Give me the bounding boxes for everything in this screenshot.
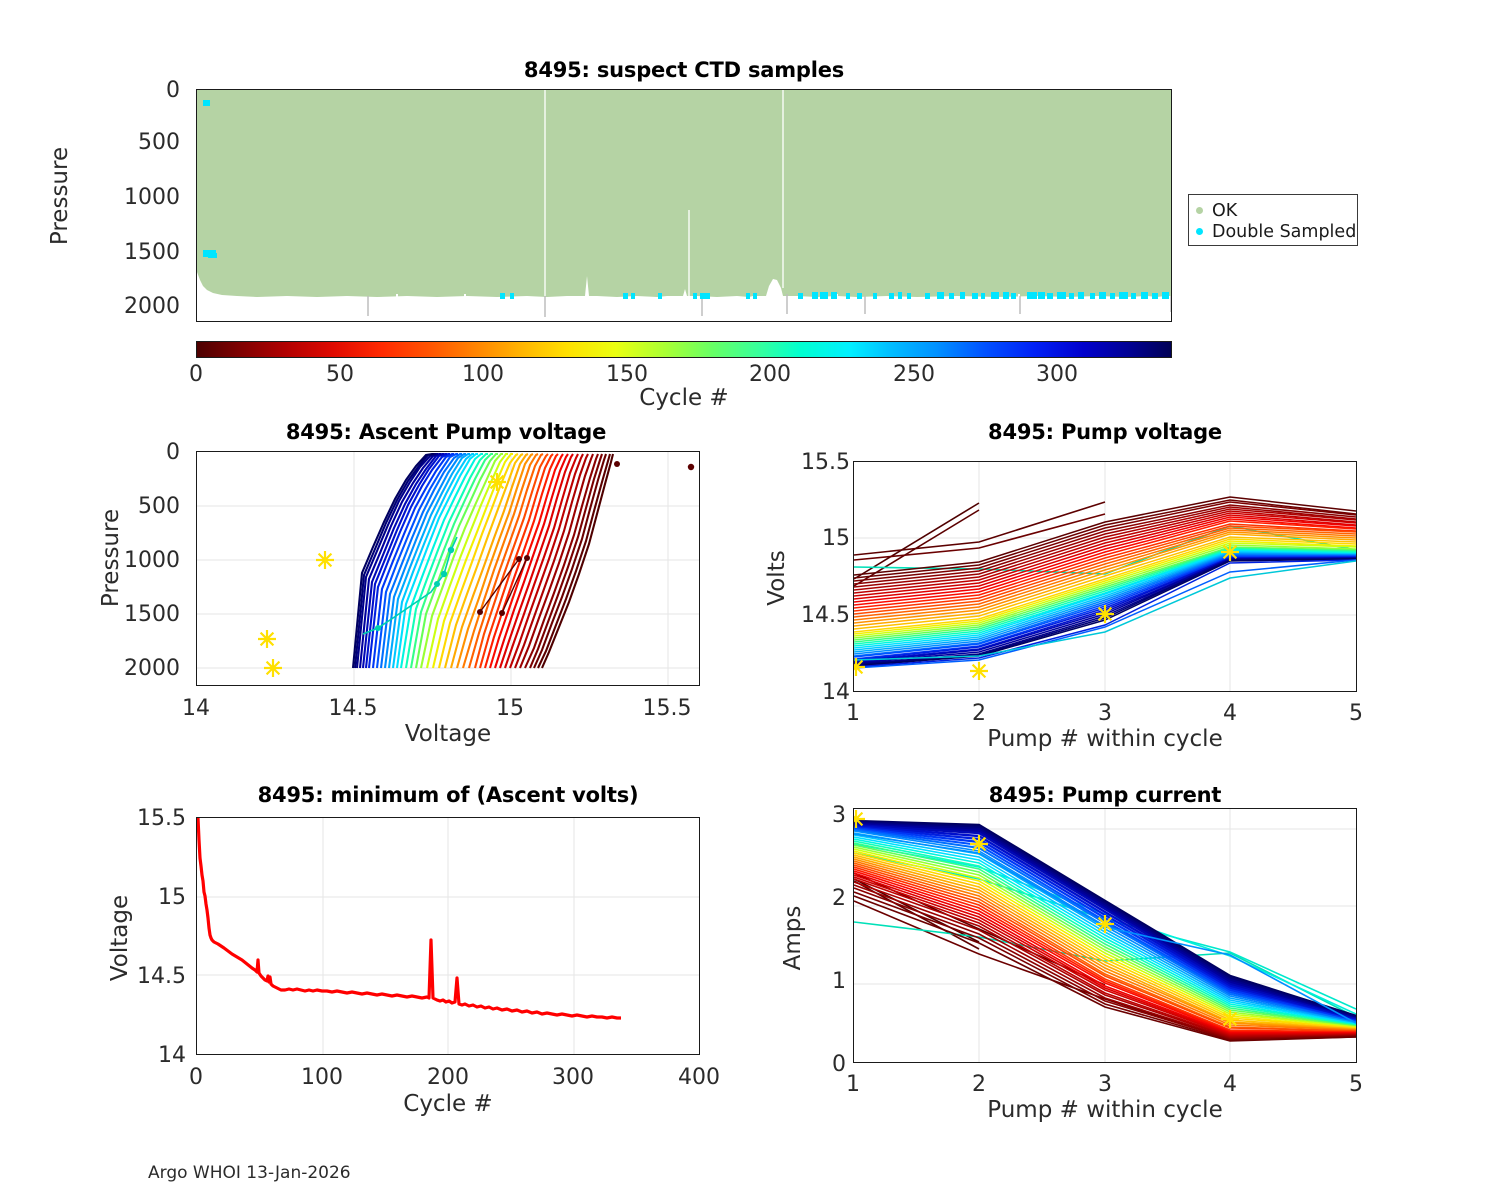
gridlines	[197, 452, 699, 685]
y-tick-pv-14-5: 14.5	[778, 603, 850, 628]
x-tick-ctd-200: 200	[730, 362, 810, 387]
y-tick-pc-1: 1	[790, 969, 846, 994]
x-tick-pc-1: 1	[813, 1072, 893, 1097]
legend-item-ok: OK	[1196, 200, 1349, 221]
y-tick-ascent-1000: 1000	[105, 548, 180, 573]
legend-suspect-ctd: OK Double Sampled	[1188, 194, 1358, 246]
x-tick-pv-5: 5	[1316, 701, 1396, 726]
plot-area-ascent-pump-voltage	[196, 451, 700, 686]
x-tick-min-0: 0	[156, 1065, 236, 1090]
x-tick-ctd-300: 300	[1017, 362, 1097, 387]
y-tick-min-14-5: 14.5	[110, 964, 186, 989]
x-axis-label-pump-number-voltage: Pump # within cycle	[905, 726, 1305, 752]
x-tick-min-400: 400	[659, 1065, 739, 1090]
y-tick-min-15-5: 15.5	[110, 806, 186, 831]
x-tick-ascent-14-5: 14.5	[313, 696, 393, 721]
ctd-sample-canvas	[197, 90, 1171, 321]
x-tick-ctd-0: 0	[156, 362, 236, 387]
x-tick-pc-2: 2	[939, 1072, 1019, 1097]
panel-title-pump-voltage: 8495: Pump voltage	[853, 420, 1357, 444]
y-axis-label-pressure-ctd: Pressure	[47, 111, 73, 281]
panel-title-ascent-pump-voltage: 8495: Ascent Pump voltage	[196, 420, 696, 444]
x-axis-label-cycle-ctd: Cycle #	[484, 385, 884, 411]
gridlines	[197, 818, 699, 1054]
x-tick-ascent-15: 15	[470, 696, 550, 721]
x-tick-ctd-250: 250	[874, 362, 954, 387]
plot-area-suspect-ctd	[196, 89, 1172, 322]
x-tick-ascent-15-5: 15.5	[627, 696, 707, 721]
x-tick-pc-5: 5	[1316, 1072, 1396, 1097]
x-tick-ctd-150: 150	[587, 362, 667, 387]
panel-title-suspect-ctd: 8495: suspect CTD samples	[196, 58, 1172, 82]
x-tick-pv-3: 3	[1065, 701, 1145, 726]
min-ascent-volts-line	[198, 818, 621, 1018]
x-tick-pc-3: 3	[1065, 1072, 1145, 1097]
x-axis-label-pump-number-current: Pump # within cycle	[905, 1097, 1305, 1123]
panel-title-min-ascent-volts: 8495: minimum of (Ascent volts)	[196, 783, 700, 807]
x-tick-ascent-14: 14	[156, 696, 236, 721]
cycle-colorbar	[196, 341, 1172, 358]
y-tick-ctd-1000: 1000	[105, 185, 180, 210]
min-ascent-volts-canvas	[197, 818, 699, 1054]
y-tick-pc-3: 3	[790, 803, 846, 828]
y-tick-pc-2: 2	[790, 886, 846, 911]
y-tick-ascent-2000: 2000	[105, 656, 180, 681]
plot-area-min-ascent-volts	[196, 817, 700, 1055]
legend-item-double-sampled: Double Sampled	[1196, 221, 1349, 242]
x-tick-pv-1: 1	[813, 701, 893, 726]
y-tick-ascent-0: 0	[105, 440, 180, 465]
plot-area-pump-current	[853, 808, 1357, 1063]
y-tick-min-15: 15	[110, 885, 186, 910]
legend-label-ok: OK	[1212, 201, 1237, 221]
legend-label-double-sampled: Double Sampled	[1212, 222, 1356, 242]
x-tick-pc-4: 4	[1190, 1072, 1270, 1097]
panel-title-pump-current: 8495: Pump current	[853, 783, 1357, 807]
y-tick-ascent-1500: 1500	[105, 602, 180, 627]
x-tick-min-200: 200	[408, 1065, 488, 1090]
x-tick-pv-2: 2	[939, 701, 1019, 726]
y-tick-ctd-1500: 1500	[105, 240, 180, 265]
y-tick-ascent-500: 500	[105, 494, 180, 519]
y-tick-pv-15: 15	[778, 526, 850, 551]
x-axis-label-cycle-min: Cycle #	[248, 1091, 648, 1117]
legend-marker-ok-icon	[1196, 207, 1203, 214]
figure-footer: Argo WHOI 13-Jan-2026	[148, 1163, 351, 1183]
pump-voltage-canvas	[854, 462, 1356, 691]
plot-area-pump-voltage	[853, 461, 1357, 692]
ascent-pump-voltage-canvas	[197, 452, 699, 685]
x-tick-min-300: 300	[533, 1065, 613, 1090]
y-tick-ctd-2000: 2000	[105, 294, 180, 319]
x-axis-label-voltage-ascent: Voltage	[248, 721, 648, 747]
ok-samples-region	[197, 90, 1171, 297]
x-tick-ctd-100: 100	[443, 362, 523, 387]
x-tick-min-100: 100	[282, 1065, 362, 1090]
y-tick-pv-15-5: 15.5	[778, 450, 850, 475]
y-tick-ctd-500: 500	[105, 130, 180, 155]
y-tick-ctd-0: 0	[105, 78, 180, 103]
pump-current-canvas	[854, 809, 1356, 1062]
x-tick-pv-4: 4	[1190, 701, 1270, 726]
x-tick-ctd-50: 50	[300, 362, 380, 387]
legend-marker-double-sampled-icon	[1196, 228, 1203, 235]
ascent-profile-bundle	[353, 454, 613, 668]
